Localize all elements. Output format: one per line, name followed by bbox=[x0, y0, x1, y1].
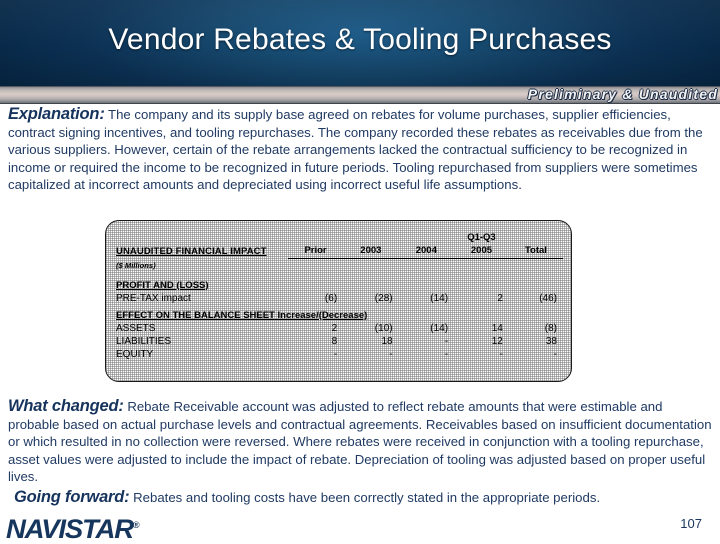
explanation-label: Explanation: bbox=[8, 105, 105, 123]
cell-pretax-2004: (14) bbox=[399, 292, 454, 305]
cell-assets-2004: (14) bbox=[399, 322, 454, 335]
section-heading-row: EFFECT ON THE BALANCE SHEET Increase/(De… bbox=[116, 305, 563, 322]
registered-trademark-icon: ® bbox=[133, 520, 140, 530]
explanation-body: The company and its supply base agreed o… bbox=[8, 107, 703, 192]
cell-assets-2003: (10) bbox=[343, 322, 398, 335]
cell-liabilities-prior: 8 bbox=[288, 335, 343, 348]
column-header-total: Total bbox=[509, 244, 563, 259]
section-heading-balance-sheet-text: EFFECT ON THE BALANCE SHEET bbox=[116, 310, 275, 321]
superheader-q1q3: Q1-Q3 bbox=[454, 231, 509, 244]
section-heading-profit-and-loss: PROFIT AND (LOSS) bbox=[116, 275, 288, 292]
table-superheader-row: Q1-Q3 bbox=[116, 231, 563, 244]
cell-assets-2005: 14 bbox=[454, 322, 509, 335]
status-badge: Preliminary & Unaudited bbox=[368, 85, 718, 103]
row-label-equity: EQUITY bbox=[116, 348, 288, 361]
cell-pretax-2005: 2 bbox=[454, 292, 509, 305]
superheader-blank-prior bbox=[288, 231, 343, 244]
cell-liabilities-2003: 18 bbox=[343, 335, 398, 348]
navistar-logo: NAVISTAR® bbox=[6, 510, 140, 544]
superheader-spacer bbox=[116, 231, 288, 244]
cell-pretax-prior: (6) bbox=[288, 292, 343, 305]
table-header-row: UNAUDITED FINANCIAL IMPACT Prior 2003 20… bbox=[116, 244, 563, 259]
cell-liabilities-total: 38 bbox=[509, 335, 563, 348]
financial-impact-table: Q1-Q3 UNAUDITED FINANCIAL IMPACT Prior 2… bbox=[116, 231, 563, 361]
page-title: Vendor Rebates & Tooling Purchases bbox=[0, 20, 720, 60]
cell-equity-2005: - bbox=[454, 348, 509, 361]
unaudited-financial-impact-box: Q1-Q3 UNAUDITED FINANCIAL IMPACT Prior 2… bbox=[105, 220, 572, 382]
column-header-2003: 2003 bbox=[343, 244, 398, 259]
row-label-assets: ASSETS bbox=[116, 322, 288, 335]
cell-assets-total: (8) bbox=[509, 322, 563, 335]
cell-pretax-2003: (28) bbox=[343, 292, 398, 305]
going-forward-body: Rebates and tooling costs have been corr… bbox=[133, 490, 600, 505]
section-heading-balance-sheet-suffix: Increase/(Decrease) bbox=[278, 310, 368, 321]
table-head: Q1-Q3 UNAUDITED FINANCIAL IMPACT Prior 2… bbox=[116, 231, 563, 259]
column-header-2004: 2004 bbox=[399, 244, 454, 259]
column-header-2005: 2005 bbox=[454, 244, 509, 259]
cell-liabilities-2005: 12 bbox=[454, 335, 509, 348]
column-header-prior: Prior bbox=[288, 244, 343, 259]
cell-equity-prior: - bbox=[288, 348, 343, 361]
cell-assets-prior: 2 bbox=[288, 322, 343, 335]
cell-equity-2004: - bbox=[399, 348, 454, 361]
table-row: ASSETS 2 (10) (14) 14 (8) bbox=[116, 322, 563, 335]
section-heading-balance-sheet: EFFECT ON THE BALANCE SHEET Increase/(De… bbox=[116, 305, 454, 322]
row-label-liabilities: LIABILITIES bbox=[116, 335, 288, 348]
going-forward-label: Going forward: bbox=[14, 488, 129, 506]
cell-equity-2003: - bbox=[343, 348, 398, 361]
page-number: 107 bbox=[680, 516, 702, 531]
units-label: ($ Millions) bbox=[116, 259, 288, 275]
table-row: PRE-TAX impact (6) (28) (14) 2 (46) bbox=[116, 292, 563, 305]
what-changed-label: What changed: bbox=[8, 397, 124, 415]
table-title: UNAUDITED FINANCIAL IMPACT bbox=[116, 244, 288, 259]
table-row: LIABILITIES 8 18 - 12 38 bbox=[116, 335, 563, 348]
what-changed-block: What changed: Rebate Receivable account … bbox=[8, 398, 714, 486]
superheader-blank-total bbox=[509, 231, 563, 244]
table-row: EQUITY - - - - - bbox=[116, 348, 563, 361]
cell-equity-total: - bbox=[509, 348, 563, 361]
row-label-pre-tax-impact: PRE-TAX impact bbox=[116, 292, 288, 305]
table-units-row: ($ Millions) bbox=[116, 259, 563, 275]
section-heading-row: PROFIT AND (LOSS) bbox=[116, 275, 563, 292]
table-body: ($ Millions) PROFIT AND (LOSS) PRE-TAX i… bbox=[116, 259, 563, 361]
slide-title-bar: Vendor Rebates & Tooling Purchases bbox=[0, 0, 720, 86]
superheader-blank-2003 bbox=[343, 231, 398, 244]
explanation-block: Explanation: The company and its supply … bbox=[8, 106, 714, 194]
going-forward-block: Going forward: Rebates and tooling costs… bbox=[14, 489, 714, 507]
cell-liabilities-2004: - bbox=[399, 335, 454, 348]
superheader-blank-2004 bbox=[399, 231, 454, 244]
cell-pretax-total: (46) bbox=[509, 292, 563, 305]
